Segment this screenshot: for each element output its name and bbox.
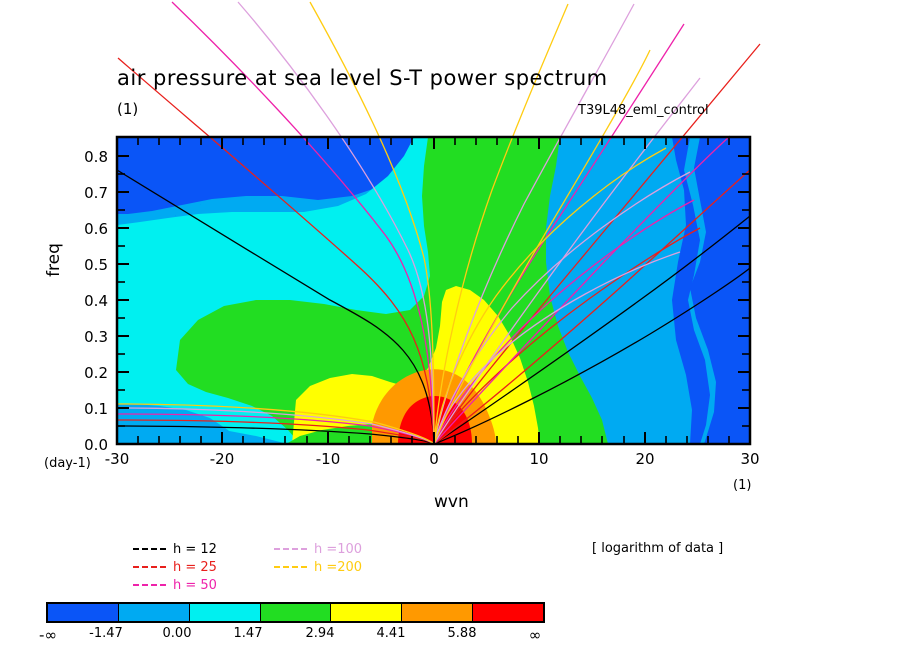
colorbar-tick-label: 4.41	[361, 626, 421, 641]
y-tick-label: 0.6	[64, 220, 108, 238]
y-tick-label: 0.1	[64, 400, 108, 418]
colorbar	[46, 602, 545, 623]
y-axis-unit: (day-1)	[44, 456, 91, 471]
colorbar-cell	[473, 604, 543, 621]
colorbar-tick-label: -∞	[18, 626, 78, 644]
colorbar-cell	[190, 604, 261, 621]
x-tick-label: 20	[621, 450, 669, 468]
y-tick-label: 0.7	[64, 184, 108, 202]
dataset-label: T39L48_eml_control	[578, 103, 709, 118]
legend-label: h = 12	[173, 542, 217, 557]
dash-icon	[133, 566, 166, 568]
y-tick-label: 0.5	[64, 256, 108, 274]
y-tick-label: 0.3	[64, 328, 108, 346]
title-unit: (1)	[117, 100, 138, 118]
x-axis-unit: (1)	[733, 478, 751, 493]
legend-item-h50: h = 50	[133, 576, 217, 594]
x-tick-label: 10	[515, 450, 563, 468]
legend-label: h = 50	[173, 578, 217, 593]
colorbar-tick-label: 2.94	[290, 626, 350, 641]
x-tick-label: 0	[410, 450, 458, 468]
legend-item-h25: h = 25	[133, 558, 217, 576]
x-tick-label: -30	[93, 450, 141, 468]
legend-item-h12: h = 12	[133, 540, 217, 558]
x-tick-label: 30	[726, 450, 774, 468]
colorbar-cell	[48, 604, 119, 621]
colorbar-tick-label: 1.47	[218, 626, 278, 641]
x-axis-label: wvn	[434, 492, 469, 512]
figure-canvas: air pressure at sea level S-T power spec…	[0, 0, 904, 654]
dash-icon	[274, 566, 307, 568]
legend-label: h =100	[314, 542, 362, 557]
dash-icon	[133, 584, 166, 586]
dash-icon	[274, 548, 307, 550]
colorbar-cell	[402, 604, 473, 621]
colorbar-labels: -∞ -1.47 0.00 1.47 2.94 4.41 5.88 ∞	[0, 626, 580, 646]
legend-column-1: h = 12 h = 25 h = 50	[133, 540, 217, 594]
colorbar-tick-label: ∞	[505, 626, 565, 644]
legend-item-h100: h =100	[274, 540, 362, 558]
dash-icon	[133, 548, 166, 550]
colorbar-cell	[261, 604, 332, 621]
colorbar-cell	[331, 604, 402, 621]
x-tick-label: -10	[304, 450, 352, 468]
legend-item-h200: h =200	[274, 558, 362, 576]
y-tick-label: 0.8	[64, 148, 108, 166]
colorbar-tick-label: 0.00	[147, 626, 207, 641]
x-tick-label: -20	[198, 450, 246, 468]
page-title: air pressure at sea level S-T power spec…	[117, 66, 608, 90]
legend-label: h = 25	[173, 560, 217, 575]
data-transform-annotation: [ logarithm of data ]	[592, 541, 723, 556]
y-axis-label: freq	[44, 243, 64, 277]
y-tick-label: 0.4	[64, 292, 108, 310]
legend-label: h =200	[314, 560, 362, 575]
legend-column-2: h =100 h =200	[274, 540, 362, 576]
y-tick-label: 0.2	[64, 364, 108, 382]
colorbar-cell	[119, 604, 190, 621]
colorbar-tick-label: -1.47	[76, 626, 136, 641]
colorbar-tick-label: 5.88	[432, 626, 492, 641]
